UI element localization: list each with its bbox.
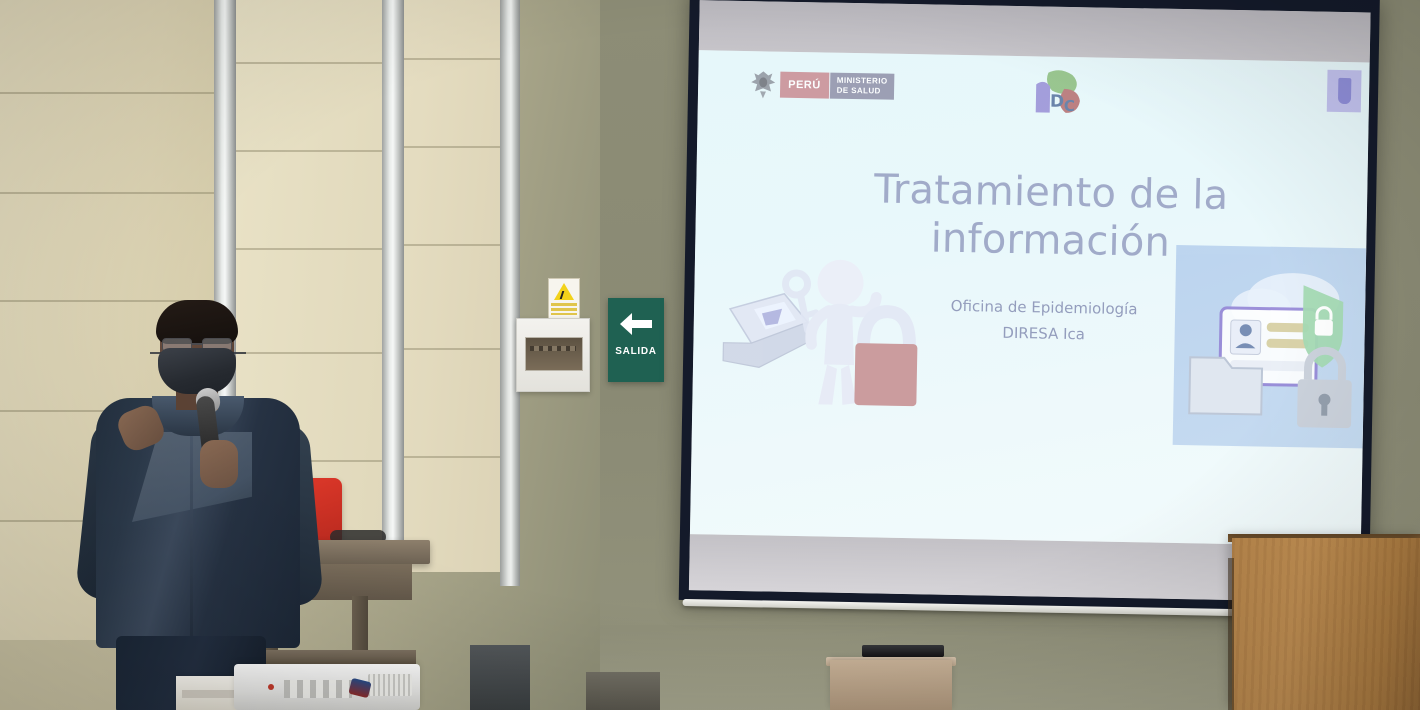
hazard-triangle-icon: [554, 283, 574, 300]
video-projector: [234, 664, 420, 710]
jacket-zipper: [190, 410, 193, 650]
red-padlock-icon: [854, 311, 918, 406]
presenter: [72, 300, 322, 710]
figure-laptop-padlock-illustration: [710, 250, 943, 434]
electrical-breaker-panel[interactable]: [516, 318, 590, 392]
data-security-illustration: [1173, 245, 1367, 448]
av-receiver-device: [862, 645, 944, 657]
screen-surface: PERÚ MINISTERIO DE SALUD D C: [689, 0, 1371, 602]
projector-ports: [284, 680, 352, 698]
purple-badge-logo-icon: [1327, 70, 1362, 113]
breaker-window: [525, 337, 583, 371]
minsa-country-label: PERÚ: [780, 72, 829, 99]
window-mullion-3: [500, 0, 520, 586]
projector-vent: [368, 674, 412, 696]
wooden-podium: [1232, 538, 1420, 710]
presenter-right-hand: [200, 440, 238, 488]
diresa-ica-emblem-icon: D C: [1025, 66, 1088, 125]
slide-title-line1: Tratamiento de la: [816, 164, 1287, 221]
hazard-sign-text: [551, 303, 577, 315]
arrow-left-icon: [619, 311, 653, 337]
minsa-logo: PERÚ MINISTERIO DE SALUD: [750, 69, 895, 102]
presentation-slide: PERÚ MINISTERIO DE SALUD D C: [690, 50, 1370, 546]
exit-sign: SALIDA: [608, 298, 664, 382]
background-chair: [470, 645, 530, 710]
minsa-wordmark: PERÚ MINISTERIO DE SALUD: [780, 72, 895, 100]
window-blind-right: [400, 0, 504, 572]
background-box: [586, 672, 660, 710]
svg-text:C: C: [1064, 97, 1075, 115]
window-mullion-2: [382, 0, 404, 600]
podium-side-edge: [1228, 558, 1234, 710]
carved-wooden-cabinet: [830, 660, 952, 710]
minsa-ministry-line2: DE SALUD: [837, 86, 888, 97]
minsa-ministry-label: MINISTERIO DE SALUD: [829, 73, 894, 100]
projector-power-led: [268, 684, 274, 690]
svg-text:D: D: [1050, 92, 1064, 112]
face-mask: [158, 348, 236, 394]
electrical-hazard-sign: [548, 278, 580, 320]
projection-screen: PERÚ MINISTERIO DE SALUD D C: [679, 0, 1380, 613]
peru-coat-of-arms-icon: [750, 69, 777, 99]
exit-sign-label: SALIDA: [615, 346, 656, 357]
podium-wood-grain: [1232, 538, 1420, 710]
presentation-room-photo: SALIDA PERÚ MIN: [0, 0, 1420, 710]
